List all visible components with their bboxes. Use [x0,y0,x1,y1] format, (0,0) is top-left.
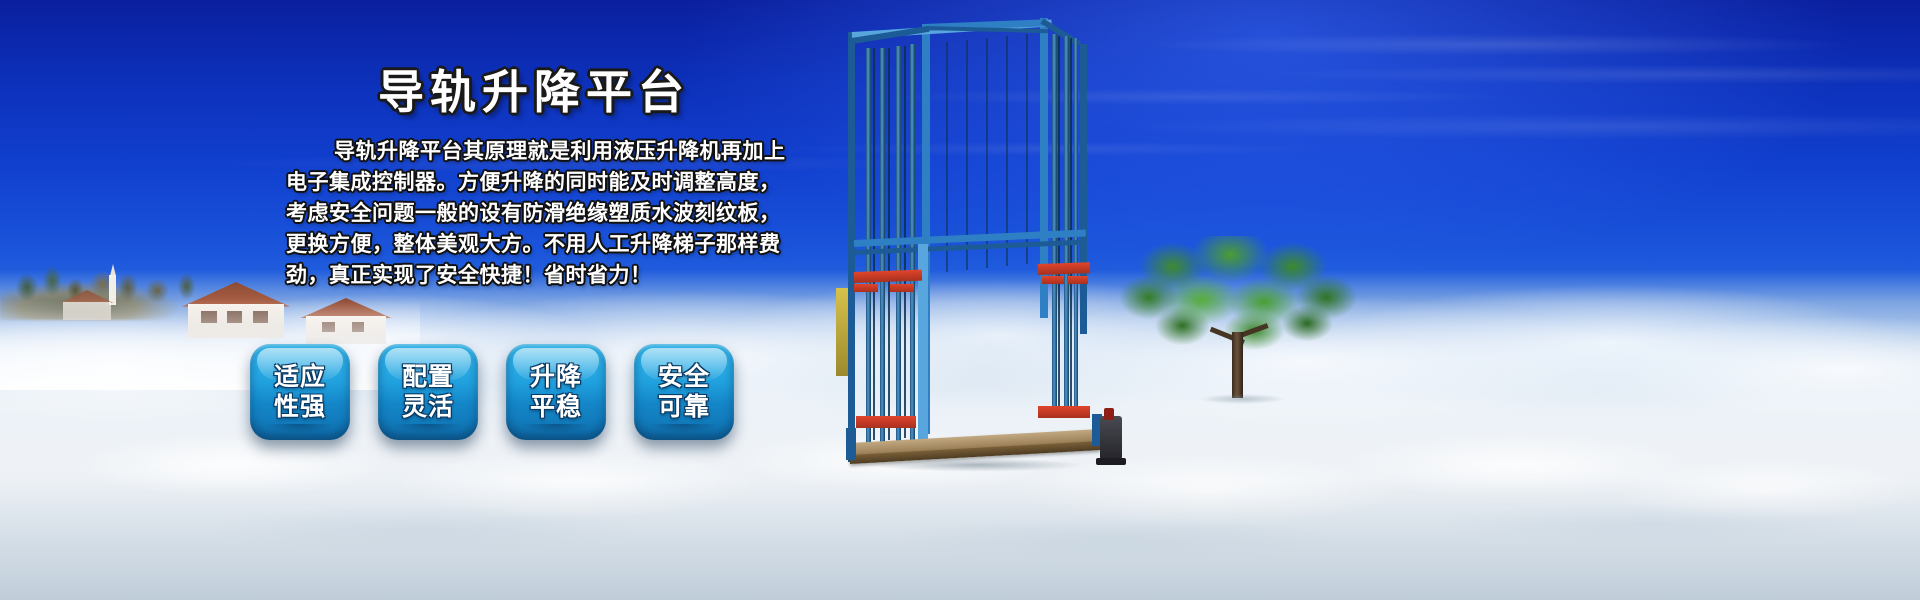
feature-button-safety[interactable]: 安全 可靠 [634,344,734,440]
tree-shadow [1182,392,1302,406]
product-banner: 导轨升降平台 导轨升降平台其原理就是利用液压升降机再加上电子集成控制器。方便升降… [0,0,1920,600]
village-house [300,298,392,344]
feature-button-smooth-lifting[interactable]: 升降 平稳 [506,344,606,440]
cloud-shadow [0,480,1920,600]
guide-rail-lift-platform [826,18,1126,486]
village-house [182,282,290,338]
control-box [836,288,848,376]
village-house [60,290,114,320]
hydraulic-power-unit [1100,416,1122,460]
tree-trunk [1232,332,1243,398]
feature-label: 升降 平稳 [530,362,582,422]
description-text: 导轨升降平台其原理就是利用液压升降机再加上电子集成控制器。方便升降的同时能及时调… [286,136,786,291]
feature-button-configuration[interactable]: 配置 灵活 [378,344,478,440]
green-tree [1120,236,1360,402]
feature-label: 适应 性强 [274,362,326,422]
feature-label: 安全 可靠 [658,362,710,422]
power-unit-cap [1104,408,1114,420]
feature-label: 配置 灵活 [402,362,454,422]
page-title: 导轨升降平台 [378,56,690,122]
feature-button-group: 适应 性强 配置 灵活 升降 平稳 安全 可靠 [250,344,734,440]
machine-shadow [834,456,1120,474]
feature-button-adaptability[interactable]: 适应 性强 [250,344,350,440]
